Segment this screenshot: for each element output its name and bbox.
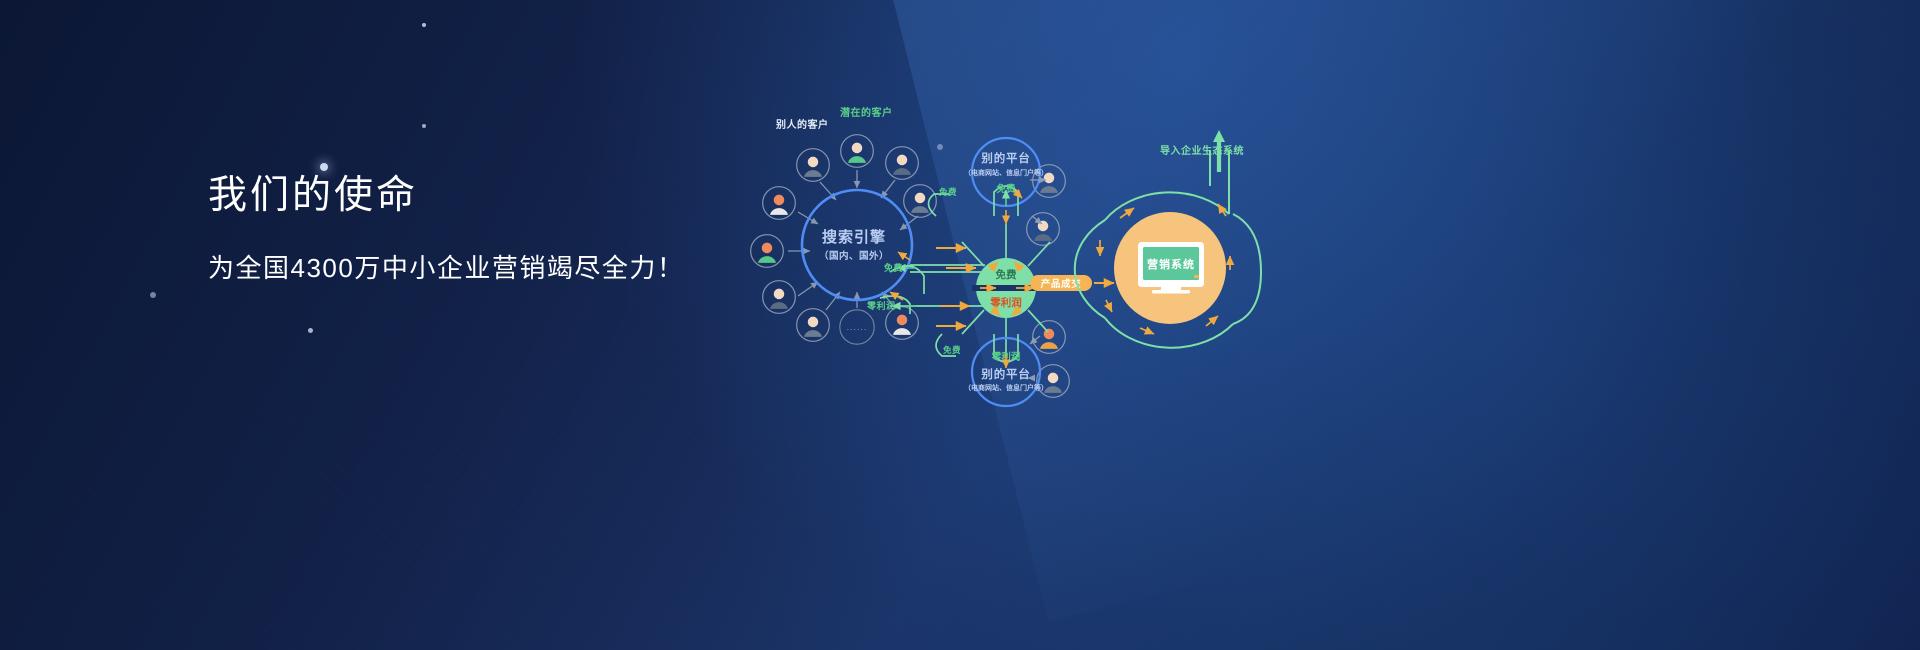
- customer-avatar: [886, 307, 919, 340]
- marketing-system-node: 营销系统: [1114, 212, 1226, 324]
- customer-avatar: [1033, 321, 1066, 354]
- customer-avatar: [763, 281, 796, 314]
- orange-hook-arrows: [890, 252, 910, 300]
- customer-avatar: [797, 309, 830, 342]
- label-potential-customers: 潜在的客户: [840, 104, 893, 119]
- label-core-top: 免费: [996, 268, 1017, 281]
- customer-avatar: [1027, 213, 1060, 246]
- ambient-dot: [320, 163, 328, 171]
- customer-avatar: [797, 149, 830, 182]
- ambient-dot: [150, 292, 156, 298]
- platform-top-inflow: [1030, 180, 1046, 224]
- label-pbot-title: 别的平台: [980, 367, 1030, 381]
- more-customers-node: ......: [840, 310, 874, 344]
- platform-top-node: 别的平台 （电商网站、信息门户等） 免费: [964, 138, 1048, 224]
- orange-right-arrows: [936, 248, 976, 326]
- label-ellipsis: ......: [847, 323, 868, 332]
- customer-avatar: [763, 187, 796, 220]
- hero-banner: 我们的使命 为全国4300万中小企业营销竭尽全力！: [0, 0, 1920, 650]
- ambient-dot: [308, 328, 313, 333]
- customer-avatar: [751, 235, 784, 268]
- customer-avatar: [841, 135, 874, 168]
- label-pbot-sub: （电商网站、信息门户等）: [964, 383, 1048, 392]
- label-ptop-sub: （电商网站、信息门户等）: [964, 168, 1048, 177]
- ecosystem-diagram: ......: [740, 120, 1280, 420]
- page-subtitle: 为全国4300万中小企业营销竭尽全力！: [208, 248, 684, 285]
- customer-avatar: [886, 147, 919, 180]
- label-mks: 营销系统: [1147, 257, 1195, 271]
- page-title: 我们的使命: [208, 176, 684, 215]
- deal-badge: 产品成交: [1030, 275, 1092, 291]
- label-core-bottom: 零利润: [989, 296, 1022, 309]
- ambient-dot: [422, 23, 426, 27]
- label-search-sub: （国内、国外）: [819, 250, 889, 262]
- customer-avatar: [1037, 365, 1070, 398]
- label-search-title: 搜索引擎: [822, 228, 886, 246]
- label-ptop-title: 别的平台: [980, 151, 1030, 165]
- search-engine-node: 搜索引擎 （国内、国外）: [802, 190, 912, 300]
- ambient-dot: [422, 124, 426, 128]
- hero-copy: 我们的使命 为全国4300万中小企业营销竭尽全力！: [208, 176, 684, 285]
